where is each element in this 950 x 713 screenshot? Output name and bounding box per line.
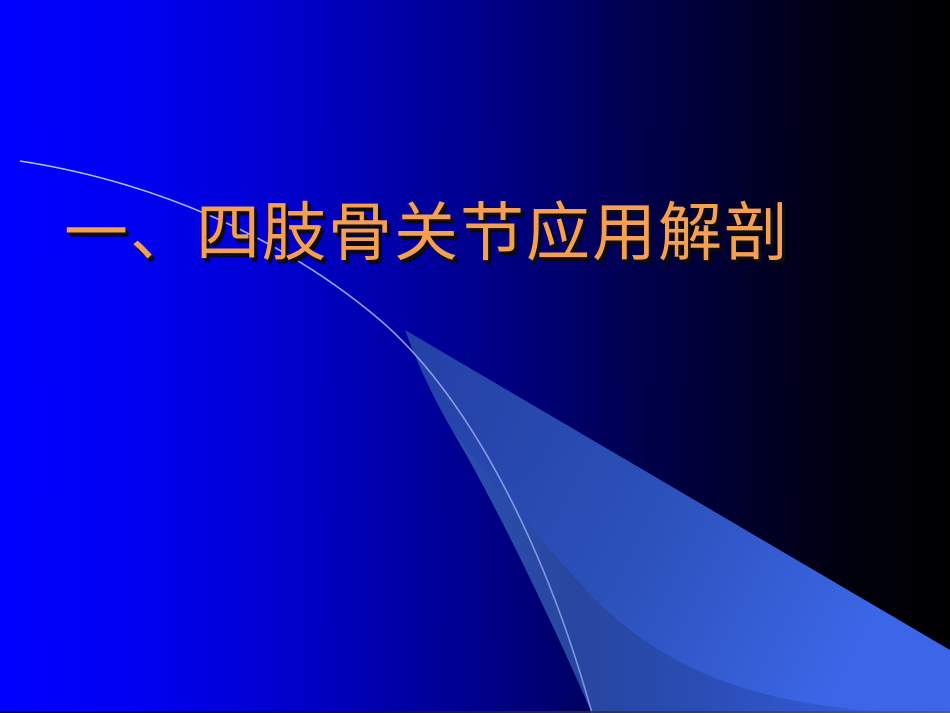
page-title: 一、四肢骨关节应用解剖 (64, 192, 790, 276)
slide-canvas: 一、四肢骨关节应用解剖 (0, 0, 950, 713)
title-block: 一、四肢骨关节应用解剖 (0, 192, 950, 282)
swoosh-wedge (405, 330, 950, 713)
decoration-layer (0, 0, 950, 713)
